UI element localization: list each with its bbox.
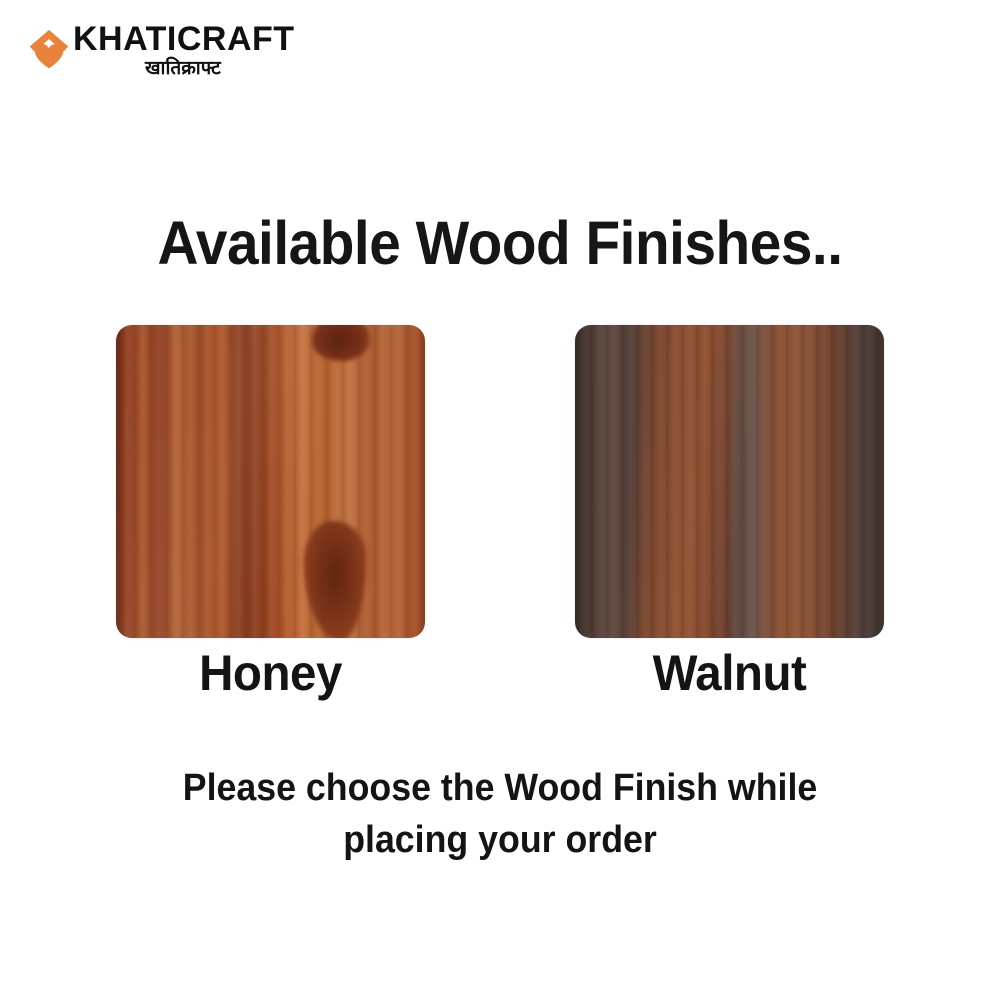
instruction-text: Please choose the Wood Finish while plac… <box>30 762 970 866</box>
brand-name: KHATICRAFT <box>73 22 295 56</box>
wood-finish-option-honey[interactable]: Honey <box>116 325 425 702</box>
brand-subtitle-devanagari: खातिक्राफ्ट <box>145 58 221 79</box>
honey-label: Honey <box>124 644 418 702</box>
walnut-edge-shadow <box>575 325 884 638</box>
wood-finish-option-walnut[interactable]: Walnut <box>575 325 884 702</box>
house-heart-icon <box>28 28 70 72</box>
honey-wood-swatch[interactable] <box>116 325 425 638</box>
brand-text-block: KHATICRAFT खातिक्राफ्ट <box>73 22 295 79</box>
wood-finish-options: Honey Walnut <box>0 325 1000 695</box>
walnut-label: Walnut <box>583 644 877 702</box>
page-title: Available Wood Finishes.. <box>35 208 965 278</box>
instruction-line-1: Please choose the Wood Finish while <box>30 762 970 814</box>
brand-logo: KHATICRAFT खातिक्राफ्ट <box>28 22 295 79</box>
wood-finishes-poster: KHATICRAFT खातिक्राफ्ट Available Wood Fi… <box>0 0 1000 1000</box>
honey-sheen-overlay <box>116 325 425 638</box>
instruction-line-2: placing your order <box>30 814 970 866</box>
walnut-wood-swatch[interactable] <box>575 325 884 638</box>
